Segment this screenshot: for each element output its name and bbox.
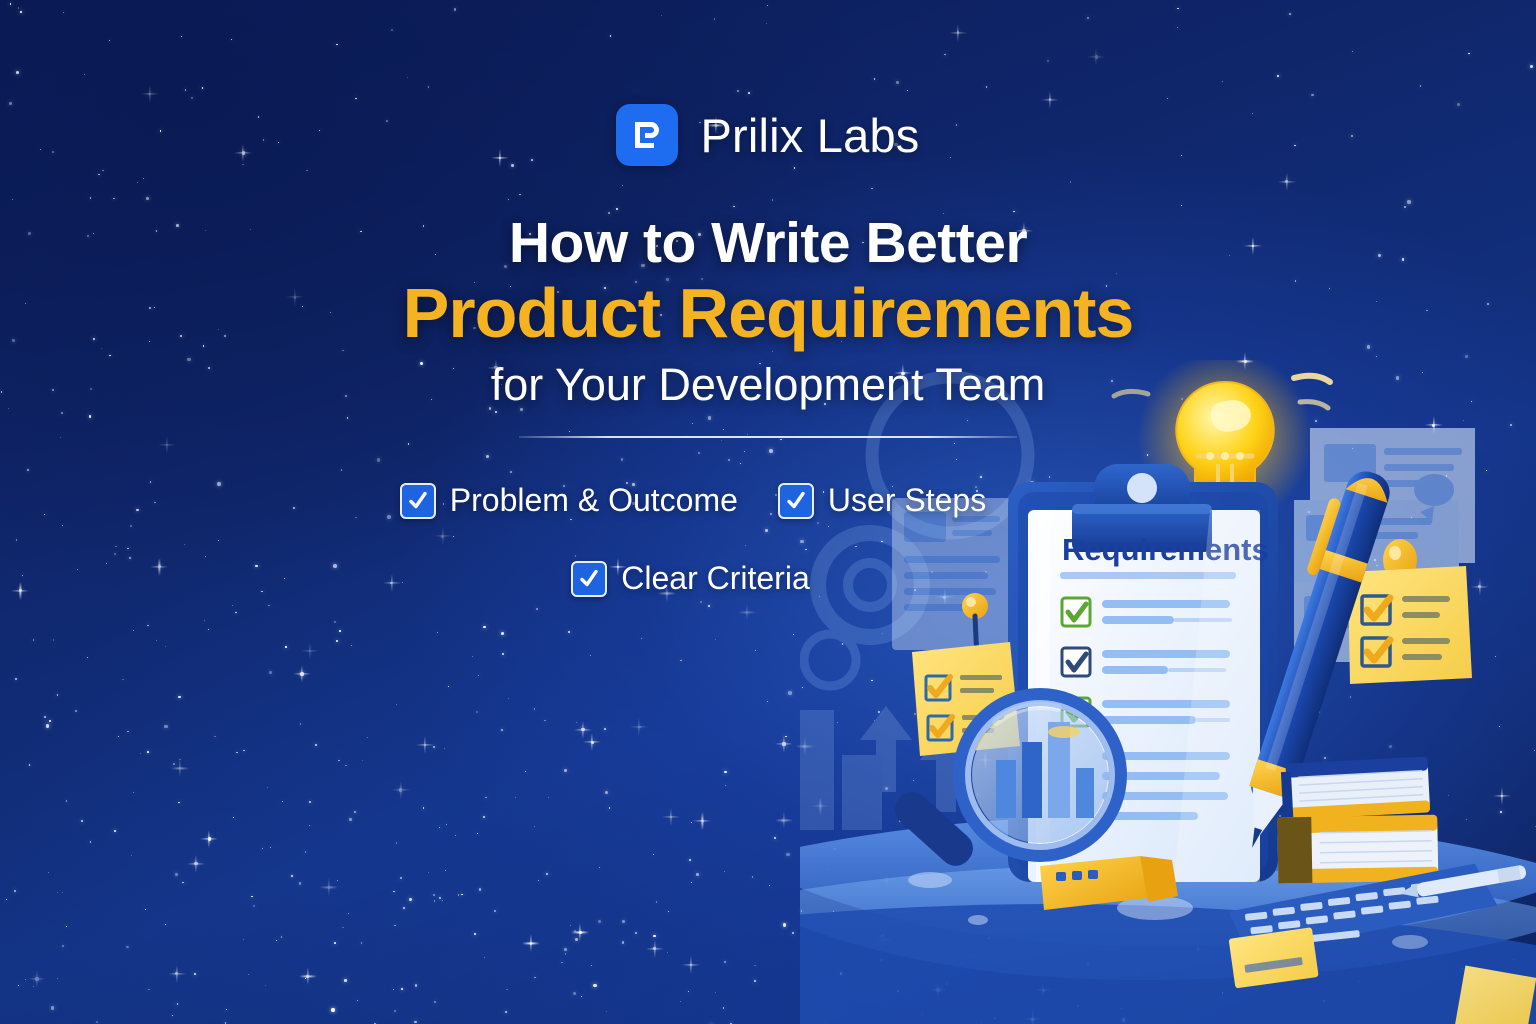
prilix-logo-icon bbox=[616, 104, 678, 166]
brand-header: Prilix Labs bbox=[0, 104, 1536, 166]
feature-label: Clear Criteria bbox=[621, 560, 809, 597]
poster-canvas: Requirements bbox=[0, 0, 1536, 1024]
feature-label: User Steps bbox=[828, 482, 986, 519]
headline-block: How to Write Better Product Requirements… bbox=[0, 212, 1536, 438]
checkbox-checked-icon bbox=[571, 561, 607, 597]
feature-checklist: Problem & Outcome User Steps Clear Crite… bbox=[0, 482, 1536, 597]
feature-label: Problem & Outcome bbox=[450, 482, 738, 519]
headline-line-1: How to Write Better bbox=[0, 212, 1536, 276]
feature-item-problem-outcome: Problem & Outcome bbox=[400, 482, 738, 519]
headline-divider bbox=[519, 436, 1017, 438]
requirements-illustration: Requirements bbox=[800, 360, 1536, 1024]
feature-item-clear-criteria: Clear Criteria bbox=[571, 560, 809, 597]
headline-line-3: for Your Development Team bbox=[0, 358, 1536, 412]
brand-name: Prilix Labs bbox=[700, 108, 919, 163]
checkbox-checked-icon bbox=[778, 483, 814, 519]
feature-item-user-steps: User Steps bbox=[778, 482, 986, 519]
books-icon bbox=[1277, 756, 1438, 883]
checkbox-checked-icon bbox=[400, 483, 436, 519]
headline-line-2: Product Requirements bbox=[0, 274, 1536, 352]
